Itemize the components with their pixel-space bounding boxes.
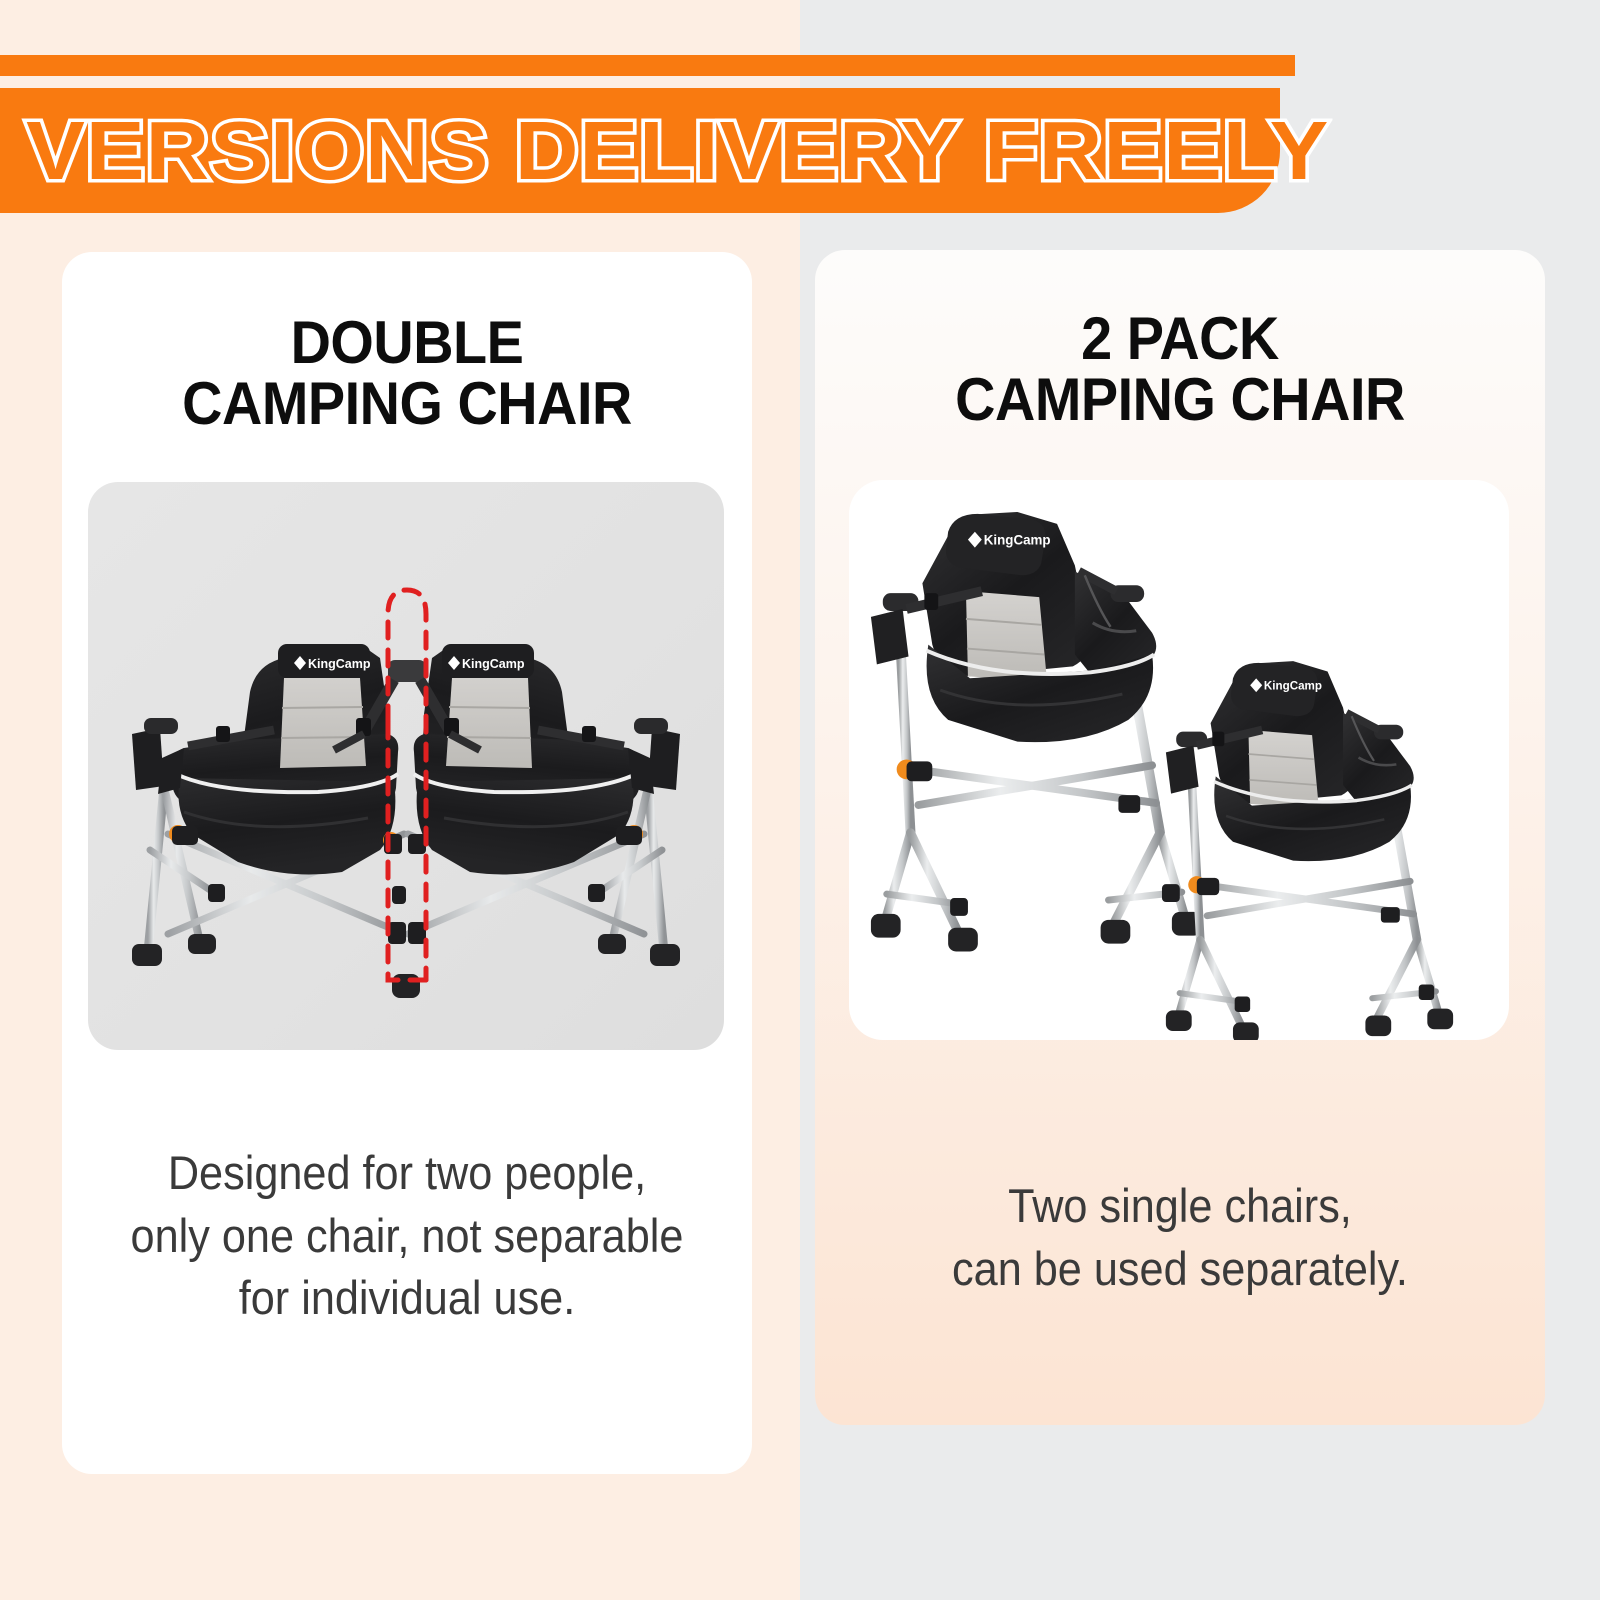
panel-caption-two-pack-line1: Two single chairs, xyxy=(844,1175,1516,1238)
single-chair-back xyxy=(871,512,1202,952)
panel-caption-double-line2: only one chair, not separable xyxy=(90,1205,725,1268)
panel-title-two-pack-line1: 2 PACK xyxy=(841,308,1520,369)
panel-title-double-line1: DOUBLE xyxy=(86,312,728,373)
panel-title-two-pack: 2 PACK CAMPING CHAIR xyxy=(841,308,1520,430)
panel-title-double: DOUBLE CAMPING CHAIR xyxy=(86,312,728,434)
panel-caption-two-pack: Two single chairs, can be used separatel… xyxy=(844,1175,1516,1300)
product-image-double: KingCamp xyxy=(88,482,724,1050)
panel-caption-double-line3: for individual use. xyxy=(90,1267,725,1330)
double-chair-illustration: KingCamp xyxy=(88,482,724,1050)
svg-text:KingCamp: KingCamp xyxy=(308,657,371,671)
product-image-two-pack: KingCamp xyxy=(849,480,1509,1040)
panel-title-double-line2: CAMPING CHAIR xyxy=(86,373,728,434)
panel-caption-double-line1: Designed for two people, xyxy=(90,1142,725,1205)
panel-caption-double: Designed for two people, only one chair,… xyxy=(90,1142,725,1330)
panel-title-two-pack-line2: CAMPING CHAIR xyxy=(841,369,1520,430)
panel-double-camping-chair: DOUBLE CAMPING CHAIR xyxy=(62,252,752,1474)
header-banner: 2 VERSIONS DELIVERY FREELY xyxy=(0,0,1600,225)
banner-top-stripe xyxy=(0,55,1295,76)
panel-caption-two-pack-line2: can be used separately. xyxy=(844,1238,1516,1301)
panel-two-pack-camping-chair: 2 PACK CAMPING CHAIR xyxy=(815,250,1545,1425)
banner-title: 2 VERSIONS DELIVERY FREELY xyxy=(0,88,1318,213)
svg-text:KingCamp: KingCamp xyxy=(462,657,525,671)
two-pack-chair-illustration: KingCamp xyxy=(849,480,1509,1040)
single-chair-front xyxy=(1166,661,1453,1040)
